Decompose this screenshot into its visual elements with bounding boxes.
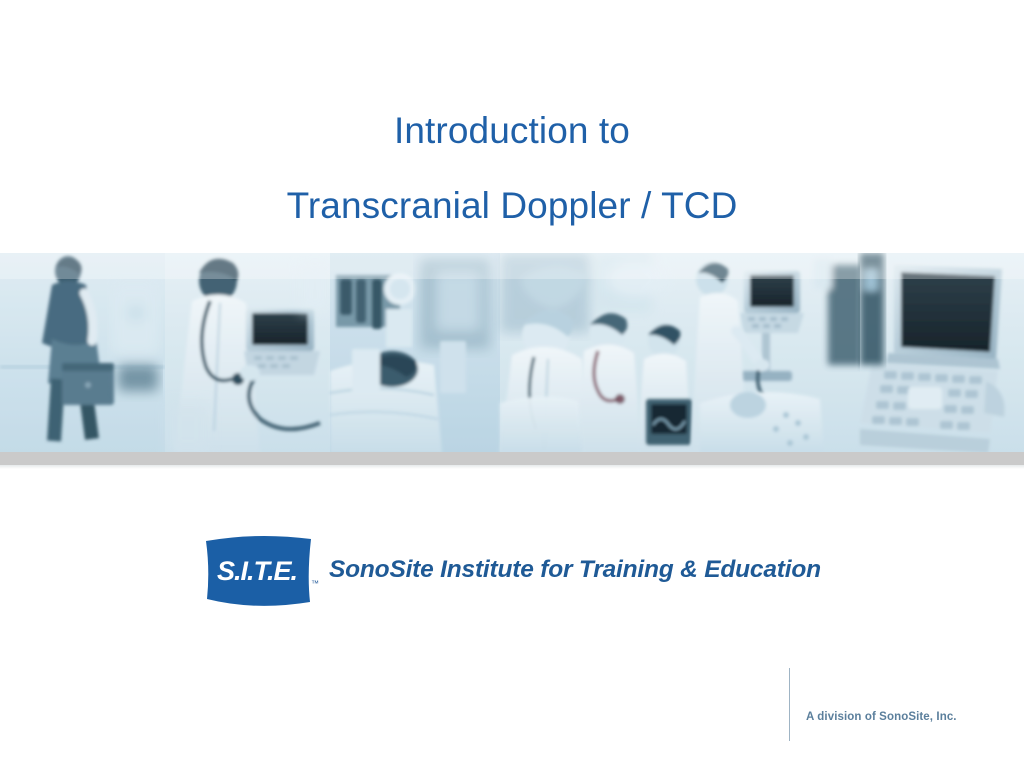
site-badge-shape: S.I.T.E. xyxy=(203,532,315,608)
image-band-shadow xyxy=(0,452,1024,465)
image-band xyxy=(0,253,1024,453)
title-line-2: Transcranial Doppler / TCD xyxy=(0,157,1024,224)
site-badge-text: S.I.T.E. xyxy=(217,556,297,586)
image-band-collage xyxy=(0,253,1024,453)
trademark-icon: ™ xyxy=(311,579,319,588)
title-line-1: Introduction to xyxy=(0,112,1024,157)
division-divider xyxy=(789,668,790,741)
division-label: A division of SonoSite, Inc. xyxy=(806,711,957,723)
slide-root: Introduction to Transcranial Doppler / T… xyxy=(0,0,1024,768)
site-logo-tagline: SonoSite Institute for Training & Educat… xyxy=(329,556,821,584)
page-title: Introduction to Transcranial Doppler / T… xyxy=(0,112,1024,224)
image-band-shadow-fade xyxy=(0,465,1024,469)
site-logo-badge: S.I.T.E. ™ xyxy=(203,532,315,608)
site-logo: S.I.T.E. ™ SonoSite Institute for Traini… xyxy=(203,532,821,608)
